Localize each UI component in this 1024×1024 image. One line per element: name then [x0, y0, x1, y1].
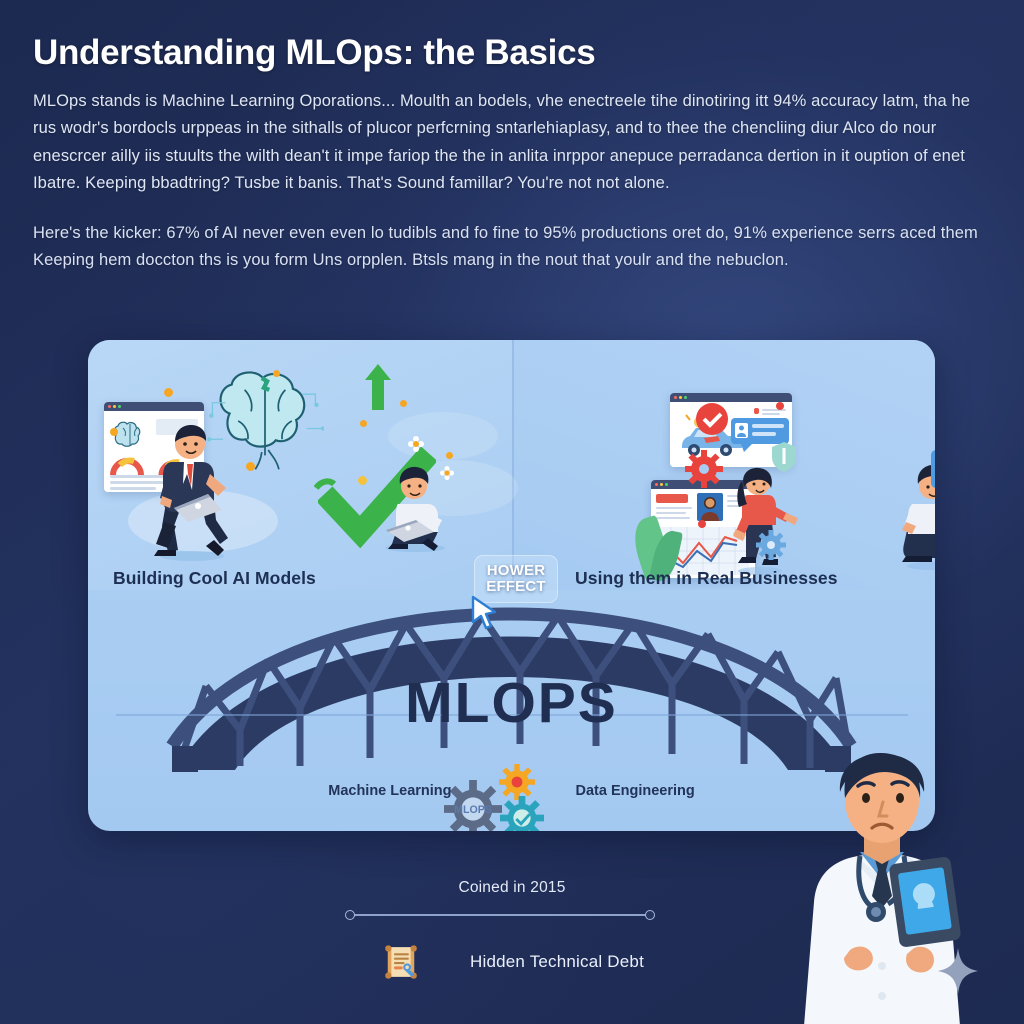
dot-decor	[273, 370, 280, 377]
gear-icon	[500, 796, 544, 831]
infographic-page: Understanding MLOps: the Basics MLOps st…	[0, 0, 1024, 1024]
hover-effect-line-2: EFFECT	[486, 579, 546, 595]
dot-decor	[446, 452, 453, 459]
browser-titlebar	[670, 393, 792, 402]
gear-icon	[685, 450, 723, 488]
data-engineering-label: Data Engineering	[576, 783, 695, 799]
mlops-wordmark: MLOPS	[88, 675, 935, 732]
timeline-node-end	[645, 910, 655, 920]
hover-effect-line-1: HOWER	[487, 563, 546, 579]
header-block: Understanding MLOps: the Basics MLOps st…	[33, 32, 991, 274]
check-circle-icon	[695, 402, 729, 436]
dot-decor	[358, 476, 367, 485]
dot-decor	[110, 428, 118, 436]
scroll-wrench-icon	[380, 941, 422, 983]
mouse-pointer-icon[interactable]	[470, 595, 500, 633]
machine-learning-label: Machine Learning	[328, 783, 451, 799]
gear-center-label: MLOPS	[454, 804, 492, 816]
browser-titlebar	[104, 402, 204, 411]
intro-paragraph-2: Here's the kicker: 67% of AI never even …	[33, 220, 991, 275]
dot-decor	[400, 400, 407, 407]
timeline	[345, 910, 655, 920]
page-title: Understanding MLOps: the Basics	[33, 32, 991, 74]
hidden-technical-debt-label: Hidden Technical Debt	[470, 952, 644, 972]
dot-decor	[246, 462, 255, 471]
timeline-node-start	[345, 910, 355, 920]
dot-decor	[776, 402, 784, 410]
up-arrow-icon	[363, 362, 393, 412]
chat-bubble-icon	[931, 450, 935, 496]
intro-paragraph-1: MLOps stands is Machine Learning Oporati…	[33, 88, 991, 198]
dot-decor	[164, 388, 173, 397]
timeline-rail	[350, 914, 650, 916]
flower-icon	[408, 436, 424, 452]
flower-icon	[440, 466, 454, 480]
sparkle-icon	[938, 948, 978, 994]
dot-decor	[360, 420, 367, 427]
shield-icon	[771, 442, 797, 472]
